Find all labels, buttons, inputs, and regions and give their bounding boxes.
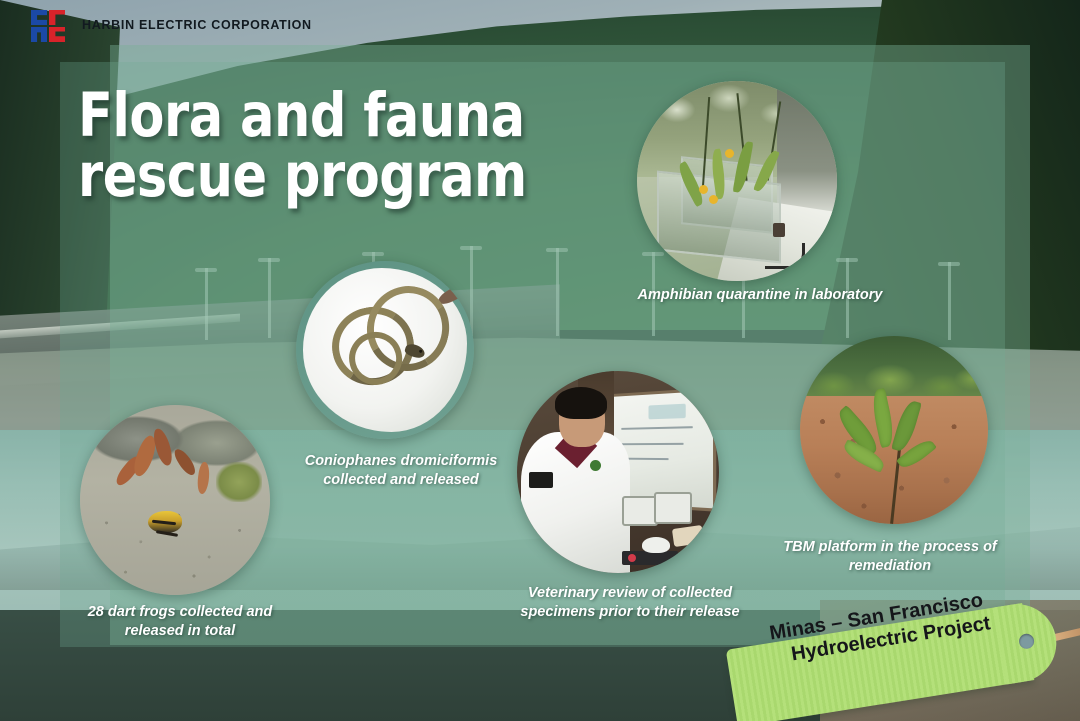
caption-line-2: collected and released — [323, 472, 479, 488]
caption-line-2: specimens prior to their release — [520, 604, 739, 620]
whiteboard-writing — [621, 443, 684, 445]
poster-canvas: HARBIN ELECTRIC CORPORATION Flora and fa… — [0, 0, 1080, 721]
page-title-line-1: Flora and fauna — [78, 86, 527, 146]
caption-line-1: Coniophanes dromiciformis — [305, 453, 498, 469]
photo-veterinary-review — [517, 371, 719, 573]
photo-coniophanes-snake — [296, 261, 474, 439]
vet-lapel-pin — [590, 460, 601, 471]
logo-square-top-left — [31, 10, 47, 25]
logo-square-top-right — [49, 10, 65, 25]
vet-shoulder-patch — [529, 472, 553, 488]
photo-tbm-platform — [800, 336, 988, 524]
vet-paper-towel — [672, 525, 704, 547]
lab-orchid-flower — [709, 195, 718, 204]
caption-line-1: Veterinary review of collected — [528, 585, 732, 601]
brand-name: HARBIN ELECTRIC CORPORATION — [82, 18, 312, 32]
whiteboard-writing — [621, 427, 693, 431]
weighing-scale — [622, 551, 678, 565]
caption-line-1: 28 dart frogs collected and — [88, 604, 273, 620]
photo-amphibian-quarantine-image — [637, 81, 837, 281]
caption-line-2: released in total — [125, 623, 235, 639]
photo-dart-frogs — [80, 405, 270, 595]
specimen-container — [622, 496, 658, 526]
lab-orchid-flower — [725, 149, 734, 158]
caption-coniophanes-snake: Coniophanes dromiciformis collected and … — [288, 452, 514, 490]
caption-tbm-platform: TBM platform in the process of remediati… — [770, 538, 1010, 576]
lab-power-cord — [765, 243, 805, 269]
caption-dart-frogs: 28 dart frogs collected and released in … — [62, 603, 298, 641]
caption-amphibian-quarantine: Amphibian quarantine in laboratory — [610, 286, 910, 305]
logo-square-bottom-left — [31, 27, 47, 42]
vet-gloved-hand — [642, 537, 670, 553]
project-tag: Minas – San Francisco Hydroelectric Proj… — [716, 612, 1080, 721]
whiteboard-chart — [648, 404, 686, 420]
page-title: Flora and fauna rescue program — [78, 86, 527, 206]
lab-orchid-flower — [699, 185, 708, 194]
caption-line-1: TBM platform in the process — [783, 539, 979, 555]
tree-canopy — [800, 344, 988, 404]
specimen-container — [654, 492, 692, 524]
harbin-electric-logo-icon — [31, 10, 65, 42]
photo-dart-frogs-image — [80, 405, 270, 595]
logo-square-bottom-right — [49, 27, 65, 42]
photo-tbm-platform-image — [800, 336, 988, 524]
photo-amphibian-quarantine — [637, 81, 837, 281]
page-title-line-2: rescue program — [78, 146, 527, 206]
brand-bar: HARBIN ELECTRIC CORPORATION — [0, 0, 1080, 46]
vet-hair — [555, 387, 607, 419]
photo-coniophanes-snake-image — [296, 261, 474, 439]
lab-power-plug — [773, 223, 785, 237]
frog-gravel-texture — [80, 405, 270, 595]
photo-veterinary-review-image — [517, 371, 719, 573]
